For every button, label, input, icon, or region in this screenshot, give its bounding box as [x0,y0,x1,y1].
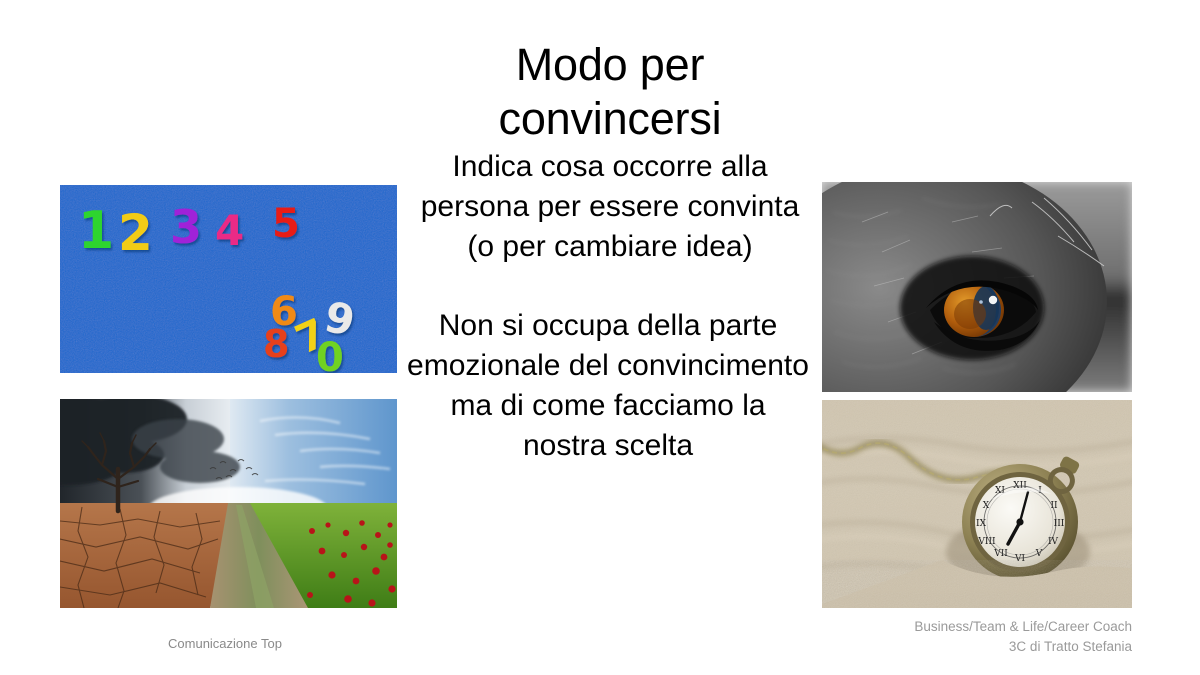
animal-eye-svg [822,182,1132,392]
footer-left-text: Comunicazione Top [168,636,282,651]
svg-text:VII: VII [993,549,1008,559]
foam-digit-3: 3 [170,200,202,254]
foam-digit-2: 2 [118,204,153,262]
page-title: Modo per convincersi [408,38,812,146]
svg-text:VI: VI [1014,554,1025,564]
numbers-photo-background: 1 2 3 4 5 6 7 8 9 0 [60,185,397,373]
foam-digit-1: 1 [78,201,114,261]
footer-left: Comunicazione Top [60,634,390,653]
image-pocket-watch-in-sand: XII I II III IV V VI VII VIII IX X XI [822,400,1132,608]
foam-digit-5: 5 [272,201,300,247]
slide-canvas: Modo per convincersi Indica cosa occorre… [0,0,1200,675]
drought-field-svg [60,399,397,608]
image-animal-eye-closeup [822,182,1132,392]
body-paragraph-2: Non si occupa della parte emozionale del… [406,306,810,466]
foam-digit-8: 8 [263,322,289,366]
slide-text-column: Modo per convincersi Indica cosa occorre… [408,38,812,466]
footer-right: Business/Team & Life/Career Coach 3C di … [800,617,1132,657]
image-drought-versus-fertile-field [60,399,397,608]
footer-right-line-2: 3C di Tratto Stefania [800,637,1132,657]
pocket-watch-svg: XII I II III IV V VI VII VIII IX X XI [822,400,1132,608]
svg-text:IX: IX [976,519,987,529]
body-paragraph-1: Indica cosa occorre alla persona per ess… [408,147,812,267]
footer-right-line-1: Business/Team & Life/Career Coach [800,617,1132,637]
foam-digit-4: 4 [215,206,244,255]
image-colored-foam-numbers: 1 2 3 4 5 6 7 8 9 0 [60,185,397,373]
numbers-photo-svg: 1 2 3 4 5 6 7 8 9 0 [60,185,397,373]
foam-digit-0: 0 [316,335,344,373]
